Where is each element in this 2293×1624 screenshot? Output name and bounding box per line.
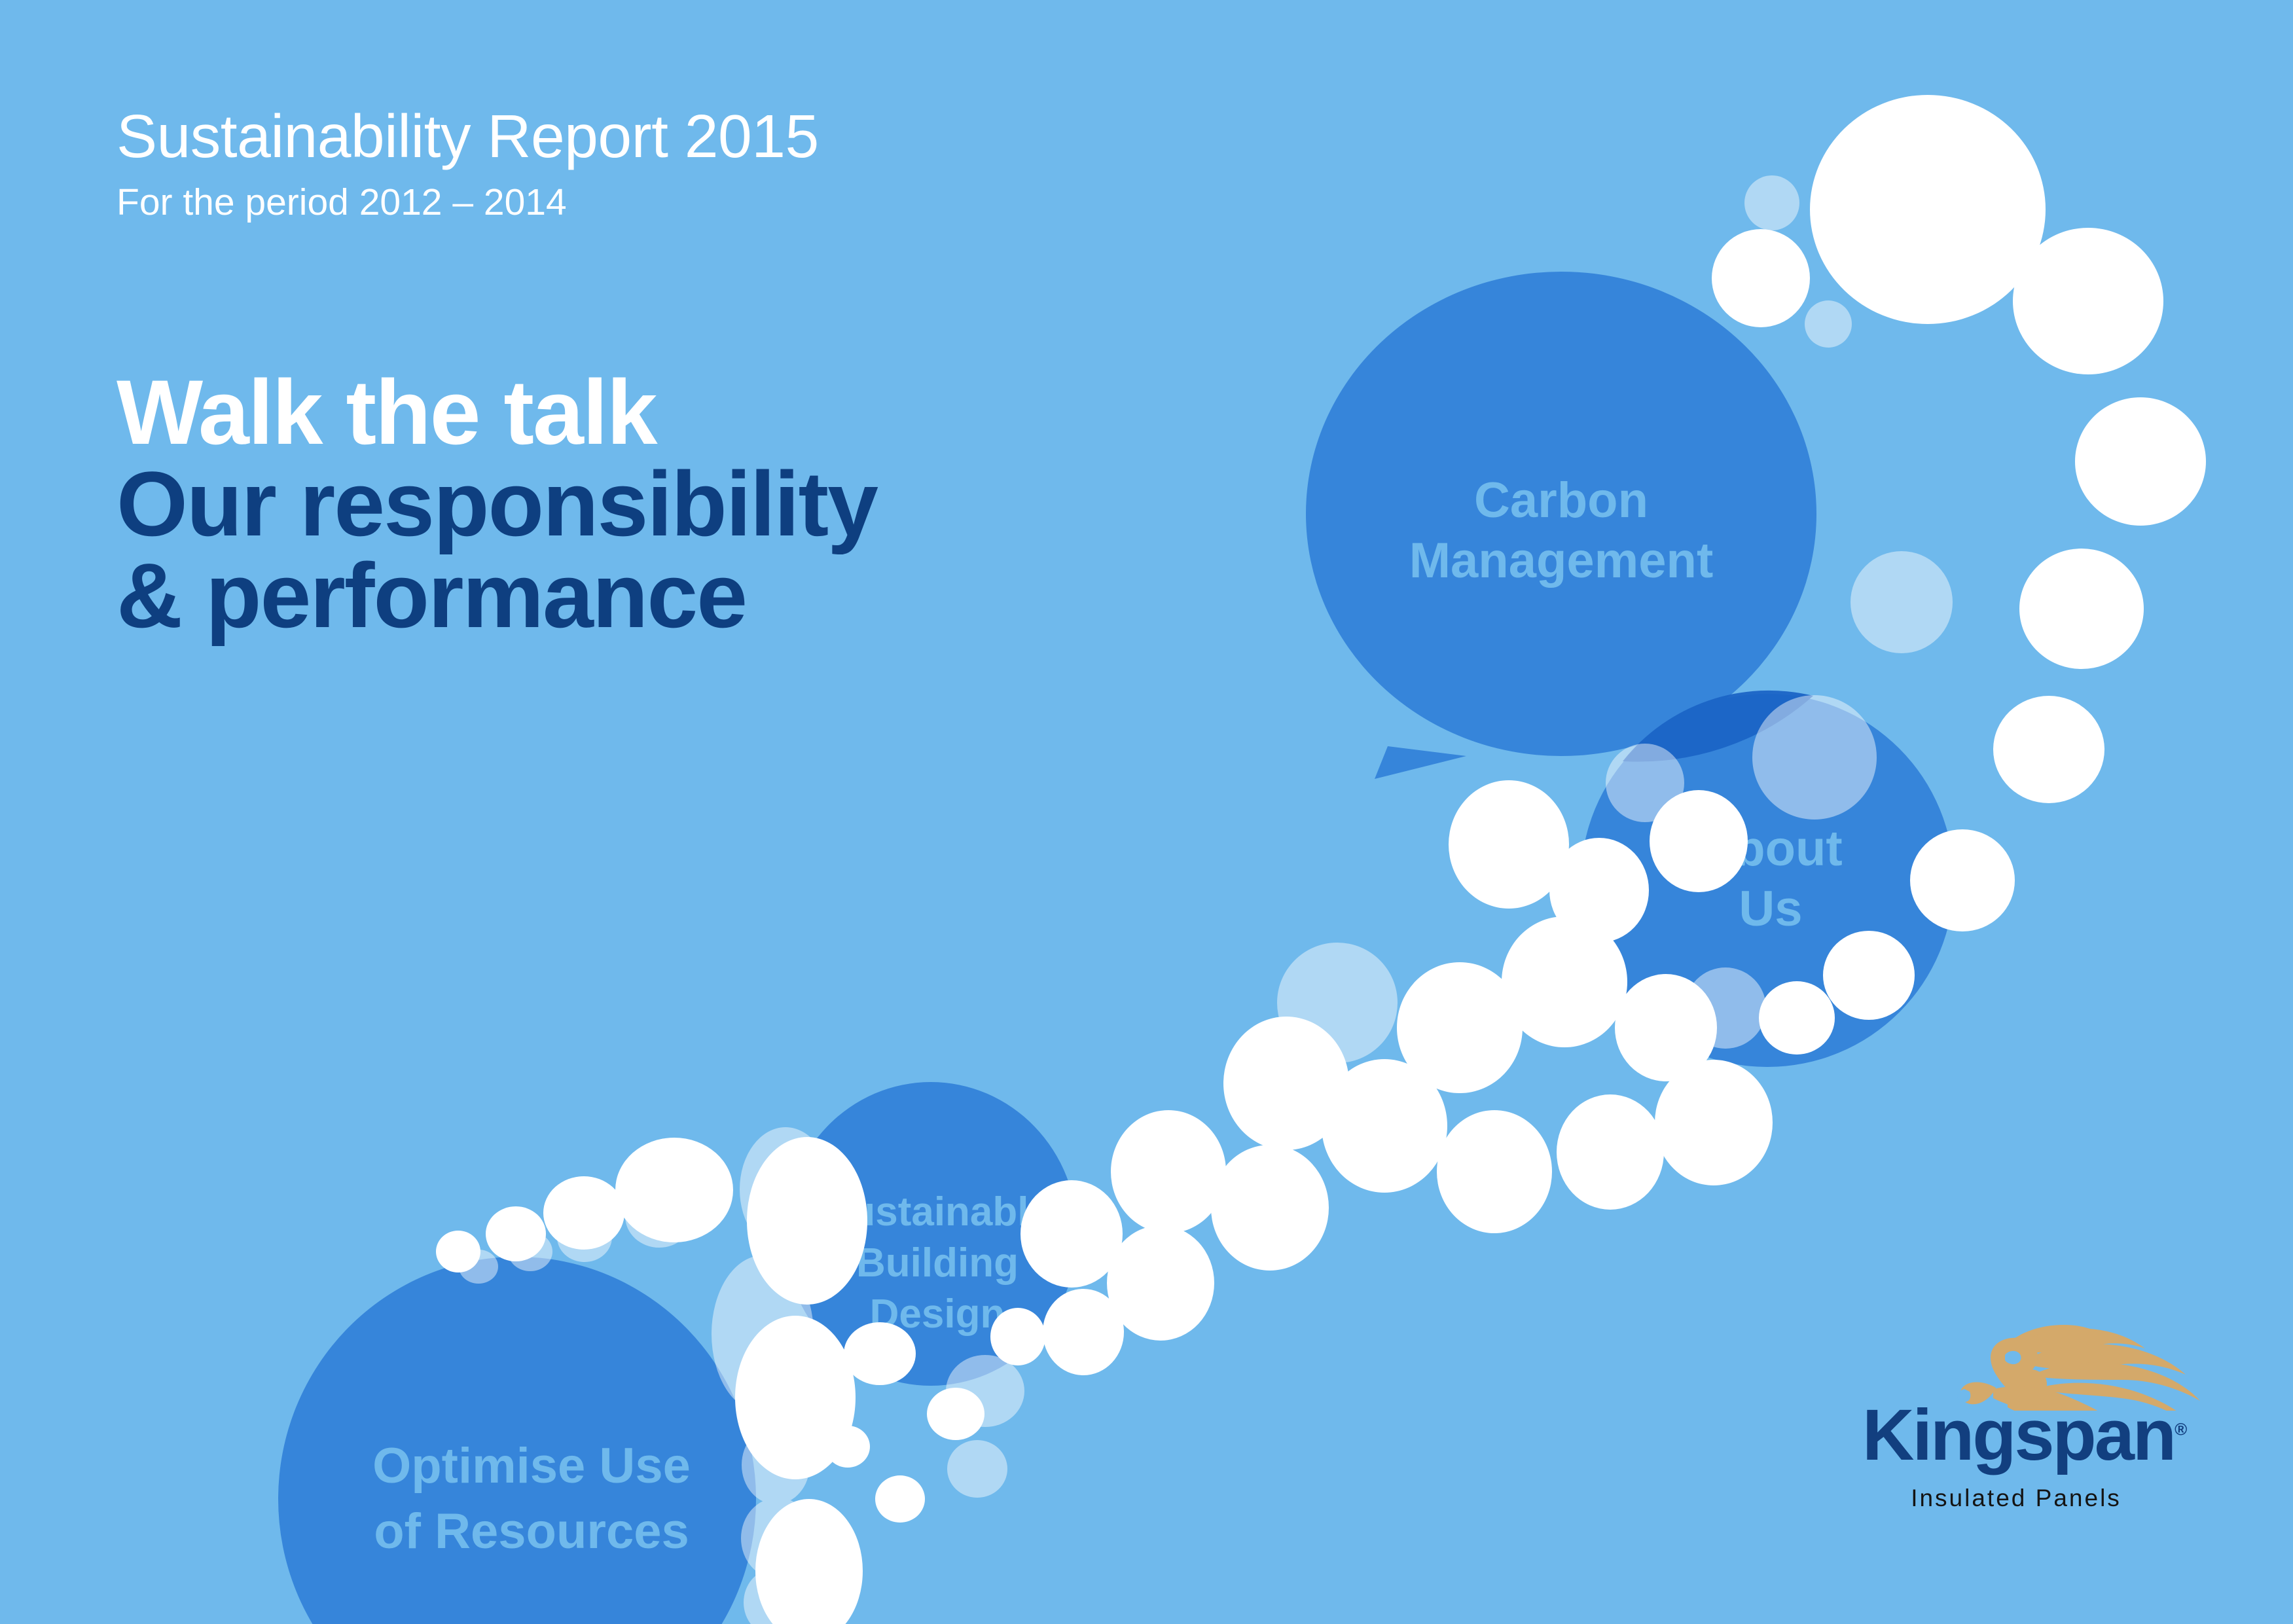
bubble-label-sbd-line2: Building bbox=[856, 1240, 1019, 1286]
registered-trademark-icon: ® bbox=[2175, 1419, 2187, 1439]
bubble-label-carbon-management-line2: Management bbox=[1409, 533, 1714, 588]
bubble-label-optimise-line2: of Resources bbox=[374, 1504, 689, 1559]
headline: Walk the talk Our responsibility & perfo… bbox=[117, 367, 1229, 641]
kingspan-logo: Kingspan® Insulated Panels bbox=[1862, 1316, 2170, 1512]
page-title: Sustainability Report 2015 bbox=[117, 105, 1164, 169]
headline-line-2: Our responsibility bbox=[117, 458, 1229, 550]
logo-wordmark: Kingspan® bbox=[1862, 1399, 2170, 1471]
report-period: For the period 2012 – 2014 bbox=[117, 183, 1164, 223]
bubble-label-about-us-line2: Us bbox=[1739, 881, 1802, 937]
bubble-label-optimise-line1: Optimise Use bbox=[372, 1438, 691, 1494]
headline-line-1: Walk the talk bbox=[117, 367, 1229, 458]
headline-line-3: & performance bbox=[117, 550, 1229, 641]
bubble-optimise-use-of-resources[interactable]: Optimise Use of Resources bbox=[278, 1257, 756, 1624]
report-cover-page: Carbon Management About Us Sustainable B… bbox=[0, 0, 2293, 1624]
bubble-label-carbon-management-line1: Carbon bbox=[1474, 473, 1648, 528]
logo-tagline: Insulated Panels bbox=[1862, 1485, 2170, 1512]
header-text-block: Sustainability Report 2015 For the perio… bbox=[117, 105, 1164, 222]
logo-wordmark-text: Kingspan bbox=[1862, 1395, 2175, 1475]
